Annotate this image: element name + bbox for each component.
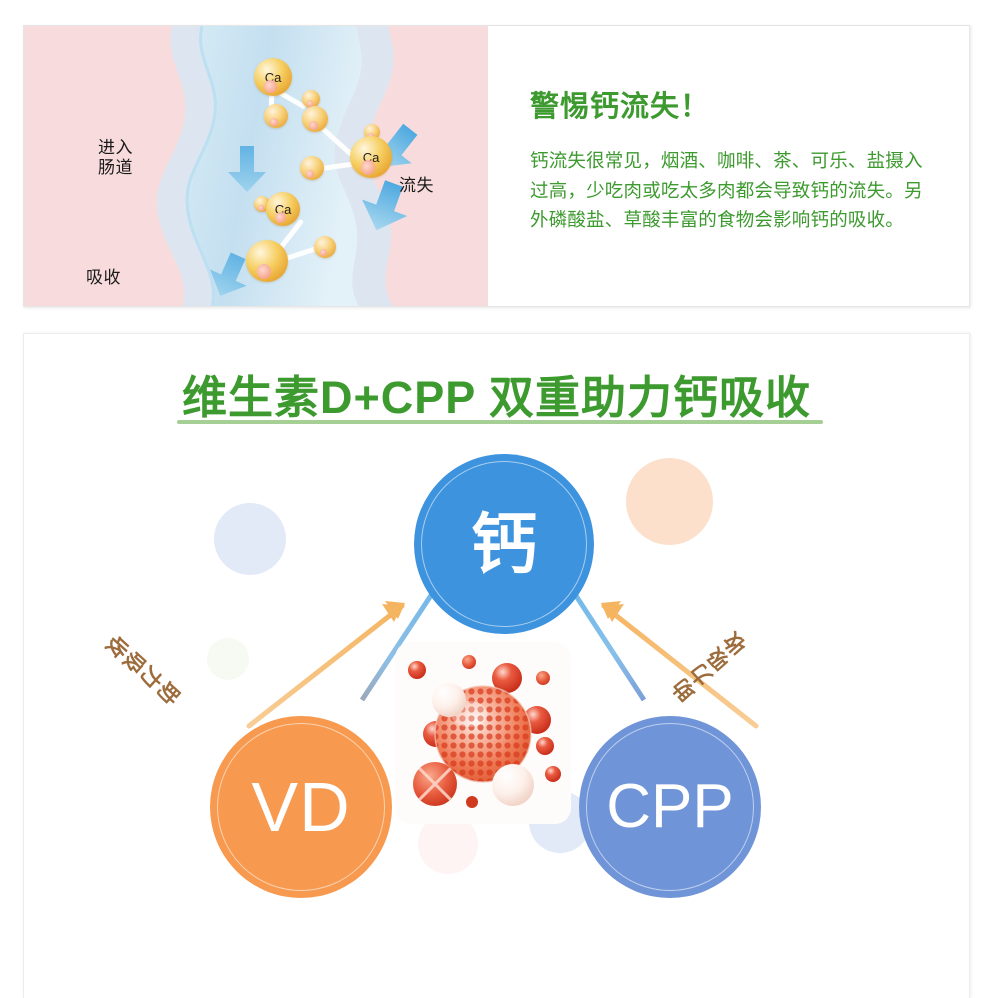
node-cpp-label: CPP xyxy=(606,776,733,838)
arrow-vd-to-calcium-icon xyxy=(249,601,405,726)
title-underline xyxy=(177,420,823,424)
node-vd[interactable]: VD xyxy=(210,716,392,898)
infographic-page: Ca Ca Ca xyxy=(0,0,990,998)
page-title: 维生素D+CPP 双重助力钙吸收 xyxy=(24,361,969,426)
triangle-diagram: 助力吸收 助力吸收 钙 VD CPP xyxy=(24,444,970,998)
absorb-label: 吸收 xyxy=(86,268,121,288)
node-vd-label: VD xyxy=(251,772,350,842)
calcium-intestine-illustration: Ca Ca Ca xyxy=(24,26,488,306)
loss-label: 流失 xyxy=(399,176,434,196)
calcium-loss-text-pane: 警惕钙流失！ 钙流失很常见，烟酒、咖啡、茶、可乐、盐摄入过高，少吃肉或吃太多肉都… xyxy=(488,26,969,306)
warning-heading: 警惕钙流失！ xyxy=(530,83,927,125)
node-calcium-label: 钙 xyxy=(471,511,537,577)
loss-label-group: 流失 xyxy=(274,26,488,306)
warning-body-text: 钙流失很常见，烟酒、咖啡、茶、可乐、盐摄入过高，少吃肉或吃太多肉都会导致钙的流失… xyxy=(530,146,927,235)
calcium-molecule-cluster-graphic xyxy=(395,642,571,824)
absorption-diagram-panel: 维生素D+CPP 双重助力钙吸收 xyxy=(23,333,970,998)
enter-intestine-label: 进入 肠道 xyxy=(98,138,133,178)
calcium-loss-panel: Ca Ca Ca xyxy=(23,25,970,307)
node-cpp[interactable]: CPP xyxy=(579,716,761,898)
node-calcium[interactable]: 钙 xyxy=(414,454,594,634)
